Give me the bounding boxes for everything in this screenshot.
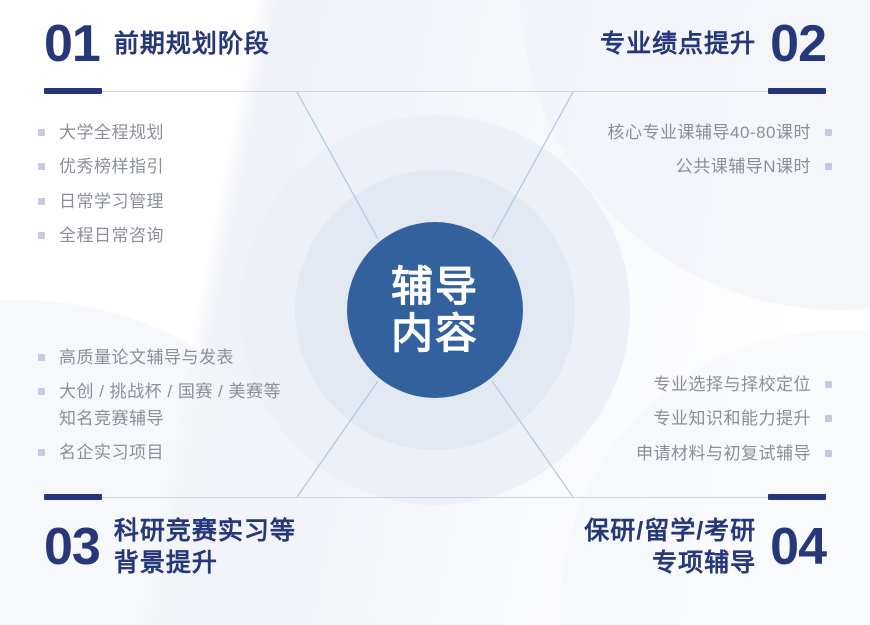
list-item-label: 高质量论文辅导与发表	[59, 345, 234, 371]
list-item: 名企实习项目	[38, 440, 281, 466]
bullet-square-icon	[38, 129, 45, 136]
list-item: 申请材料与初复试辅导	[636, 441, 832, 467]
quadrant-header-02: 专业绩点提升 02	[600, 18, 826, 70]
quadrant-number-04: 04	[770, 521, 826, 573]
list-item-label: 专业选择与择校定位	[654, 372, 812, 398]
quadrant-title-03: 科研竞赛实习等 背景提升	[114, 515, 296, 579]
quadrant-header-03: 03 科研竞赛实习等 背景提升	[44, 515, 296, 579]
list-item: 公共课辅导N课时	[608, 154, 832, 180]
list-item: 专业知识和能力提升	[636, 406, 832, 432]
bullet-square-icon	[38, 449, 45, 456]
list-item: 核心专业课辅导40-80课时	[608, 120, 832, 146]
bullet-square-icon	[38, 354, 45, 361]
list-item-label: 全程日常咨询	[59, 223, 164, 249]
list-item: 大学全程规划	[38, 120, 164, 146]
rule-04	[356, 494, 826, 500]
bullet-square-icon	[38, 388, 45, 395]
list-item: 日常学习管理	[38, 189, 164, 215]
list-item-label: 优秀榜样指引	[59, 154, 164, 180]
quadrant-title-04: 保研/留学/考研 专项辅导	[584, 515, 756, 579]
bullet-square-icon	[38, 198, 45, 205]
hub-title-line2: 内容	[391, 310, 479, 357]
list-item-label: 专业知识和能力提升	[654, 406, 812, 432]
bullet-square-icon	[825, 450, 832, 457]
rule-02	[356, 88, 826, 94]
bullet-square-icon	[825, 381, 832, 388]
quadrant-number-01: 01	[44, 18, 100, 70]
list-item-label: 核心专业课辅导40-80课时	[608, 120, 811, 146]
list-item-label: 名企实习项目	[59, 440, 164, 466]
list-item: 优秀榜样指引	[38, 154, 164, 180]
list-item: 大创 / 挑战杯 / 国赛 / 美赛等 知名竞赛辅导	[38, 379, 281, 432]
quadrant-list-01: 大学全程规划 优秀榜样指引 日常学习管理 全程日常咨询	[38, 120, 164, 257]
list-item-label: 大学全程规划	[59, 120, 164, 146]
quadrant-list-02: 核心专业课辅导40-80课时 公共课辅导N课时	[608, 120, 832, 189]
bullet-square-icon	[825, 129, 832, 136]
list-item: 全程日常咨询	[38, 223, 164, 249]
list-item-label: 申请材料与初复试辅导	[636, 441, 811, 467]
quadrant-number-03: 03	[44, 521, 100, 573]
quadrant-title-01: 前期规划阶段	[114, 28, 270, 60]
hub-title-line1: 辅导	[391, 263, 479, 310]
connector-line-02	[492, 92, 573, 239]
list-item-label: 大创 / 挑战杯 / 国赛 / 美赛等 知名竞赛辅导	[59, 379, 281, 432]
quadrant-header-04: 保研/留学/考研 专项辅导 04	[584, 515, 826, 579]
list-item-label: 公共课辅导N课时	[676, 154, 811, 180]
connector-line-01	[297, 92, 378, 239]
bullet-square-icon	[825, 415, 832, 422]
list-item: 专业选择与择校定位	[636, 372, 832, 398]
center-hub: 辅导 内容	[347, 222, 523, 398]
infographic-canvas: 辅导 内容 01 前期规划阶段 大学全程规划 优秀榜样指引 日常学习管理 全程日…	[0, 0, 870, 625]
quadrant-header-01: 01 前期规划阶段	[44, 18, 270, 70]
bullet-square-icon	[38, 163, 45, 170]
quadrant-title-02: 专业绩点提升	[600, 28, 756, 60]
quadrant-number-02: 02	[770, 18, 826, 70]
quadrant-list-03: 高质量论文辅导与发表 大创 / 挑战杯 / 国赛 / 美赛等 知名竞赛辅导 名企…	[38, 345, 281, 474]
list-item-label: 日常学习管理	[59, 189, 164, 215]
list-item: 高质量论文辅导与发表	[38, 345, 281, 371]
bullet-square-icon	[38, 232, 45, 239]
bullet-square-icon	[825, 163, 832, 170]
connector-line-04	[492, 381, 573, 497]
connector-line-03	[297, 381, 378, 497]
quadrant-list-04: 专业选择与择校定位 专业知识和能力提升 申请材料与初复试辅导	[636, 372, 832, 475]
